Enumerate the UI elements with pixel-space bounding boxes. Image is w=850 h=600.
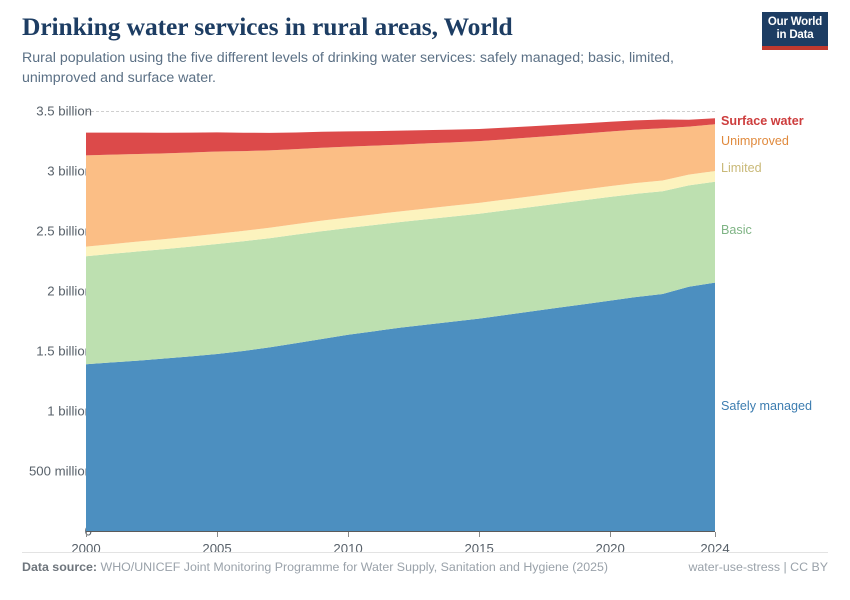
x-axis-line xyxy=(86,531,715,532)
data-source-label: Data source: xyxy=(22,560,97,574)
stacked-area-chart[interactable]: 0500 million1 billion1.5 billion2 billio… xyxy=(0,100,850,550)
license-note[interactable]: water-use-stress | CC BY xyxy=(688,560,828,574)
x-axis-tick xyxy=(715,532,716,537)
y-axis-tick-label: 1.5 billion xyxy=(36,344,92,359)
owid-logo[interactable]: Our World in Data xyxy=(762,12,828,50)
x-axis-tick xyxy=(479,532,480,537)
chart-header: Drinking water services in rural areas, … xyxy=(22,12,828,88)
series-label-limited[interactable]: Limited xyxy=(721,161,762,175)
series-label-surface-water[interactable]: Surface water xyxy=(721,114,804,128)
page-title: Drinking water services in rural areas, … xyxy=(22,12,828,42)
x-axis-tick xyxy=(610,532,611,537)
chart-subtitle: Rural population using the five differen… xyxy=(22,48,712,88)
chart-page: Drinking water services in rural areas, … xyxy=(0,0,850,600)
chart-footer: Data source: WHO/UNICEF Joint Monitoring… xyxy=(22,552,828,586)
x-axis-tick xyxy=(86,532,87,537)
series-label-basic[interactable]: Basic xyxy=(721,223,752,237)
logo-line-1: Our World xyxy=(768,16,822,29)
x-axis-tick xyxy=(217,532,218,537)
x-axis-tick xyxy=(348,532,349,537)
series-label-unimproved[interactable]: Unimproved xyxy=(721,134,789,148)
data-source: Data source: WHO/UNICEF Joint Monitoring… xyxy=(22,560,608,574)
y-axis-tick-label: 500 million xyxy=(29,464,92,479)
y-axis-tick-label: 3.5 billion xyxy=(36,104,92,119)
y-axis-tick-label: 2.5 billion xyxy=(36,224,92,239)
logo-line-2: in Data xyxy=(777,29,814,42)
plot-area[interactable] xyxy=(86,111,715,531)
area-series-group[interactable] xyxy=(86,111,715,531)
data-source-text: WHO/UNICEF Joint Monitoring Programme fo… xyxy=(101,560,609,574)
series-label-safely-managed[interactable]: Safely managed xyxy=(721,399,812,413)
